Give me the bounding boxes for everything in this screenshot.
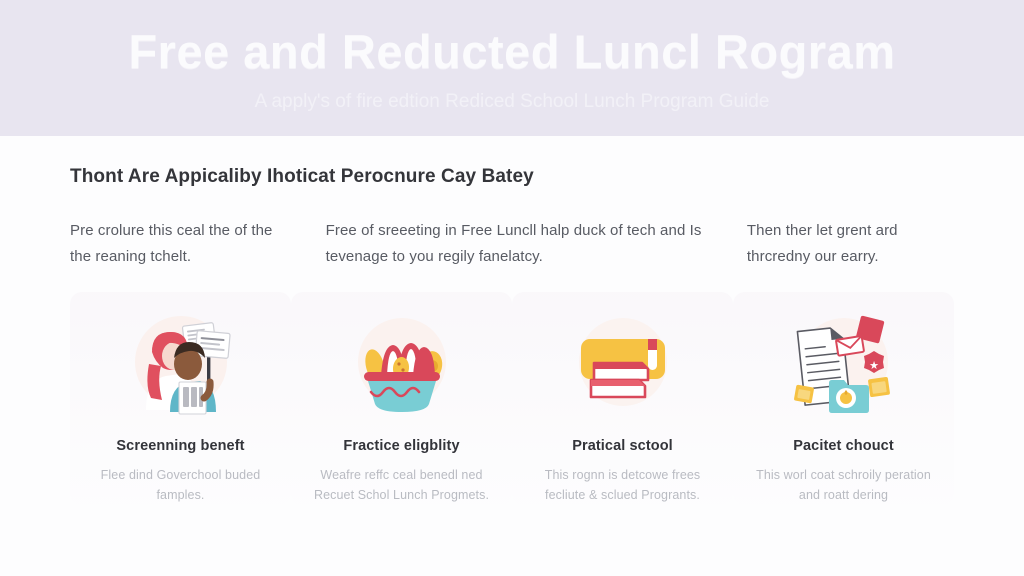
feature-card: Pratical sctool This rognn is detcowe fr… <box>512 292 733 506</box>
poster-page: Free and Reducted Luncl Rogram A apply's… <box>0 0 1024 576</box>
card-title: Pratical sctool <box>572 438 673 454</box>
feature-cards: Screenning beneft Flee dind Goverchool b… <box>70 292 954 506</box>
feature-card: ★ Pacitet chouct This <box>733 292 954 506</box>
page-subtitle: A apply's of fire edtion Rediced School … <box>255 91 770 113</box>
card-text: This rognn is detcowe frees fecliute & s… <box>528 465 718 506</box>
intro-columns: Pre crolure this ceal the of the the rea… <box>70 218 954 270</box>
card-text: Weafre reffc ceal benedl ned Recuet Scho… <box>307 465 497 506</box>
hero-header: Free and Reducted Luncl Rogram A apply's… <box>0 0 1024 136</box>
intro-paragraph-2: Free of sreeeting in Free Luncll halp du… <box>326 218 711 270</box>
card-title: Fractice eligblity <box>343 438 459 454</box>
food-basket-icon <box>343 306 461 424</box>
card-title: Pacitet chouct <box>793 438 894 454</box>
feature-card: Fractice eligblity Weafre reffc ceal ben… <box>291 292 512 506</box>
document-folder-stamps-icon: ★ <box>785 306 903 424</box>
card-text: Flee dind Goverchool buded famples. <box>86 465 276 506</box>
intro-paragraph-1: Pre crolure this ceal the of the the rea… <box>70 218 290 270</box>
section-heading: Thont Are Appicaliby Ihoticat Perocnure … <box>70 166 954 188</box>
feature-card: Screenning beneft Flee dind Goverchool b… <box>70 292 291 506</box>
books-stack-icon <box>564 306 682 424</box>
intro-paragraph-3: Then ther let grent ard thrcredny our ea… <box>747 218 954 270</box>
svg-text:★: ★ <box>869 360 879 372</box>
page-title: Free and Reducted Luncl Rogram <box>128 27 895 76</box>
card-title: Screenning beneft <box>116 438 244 454</box>
two-people-with-documents-icon <box>122 306 240 424</box>
main-content: Thont Are Appicaliby Ihoticat Perocnure … <box>0 136 1024 576</box>
card-text: This worl coat schroily peration and roa… <box>749 465 939 506</box>
